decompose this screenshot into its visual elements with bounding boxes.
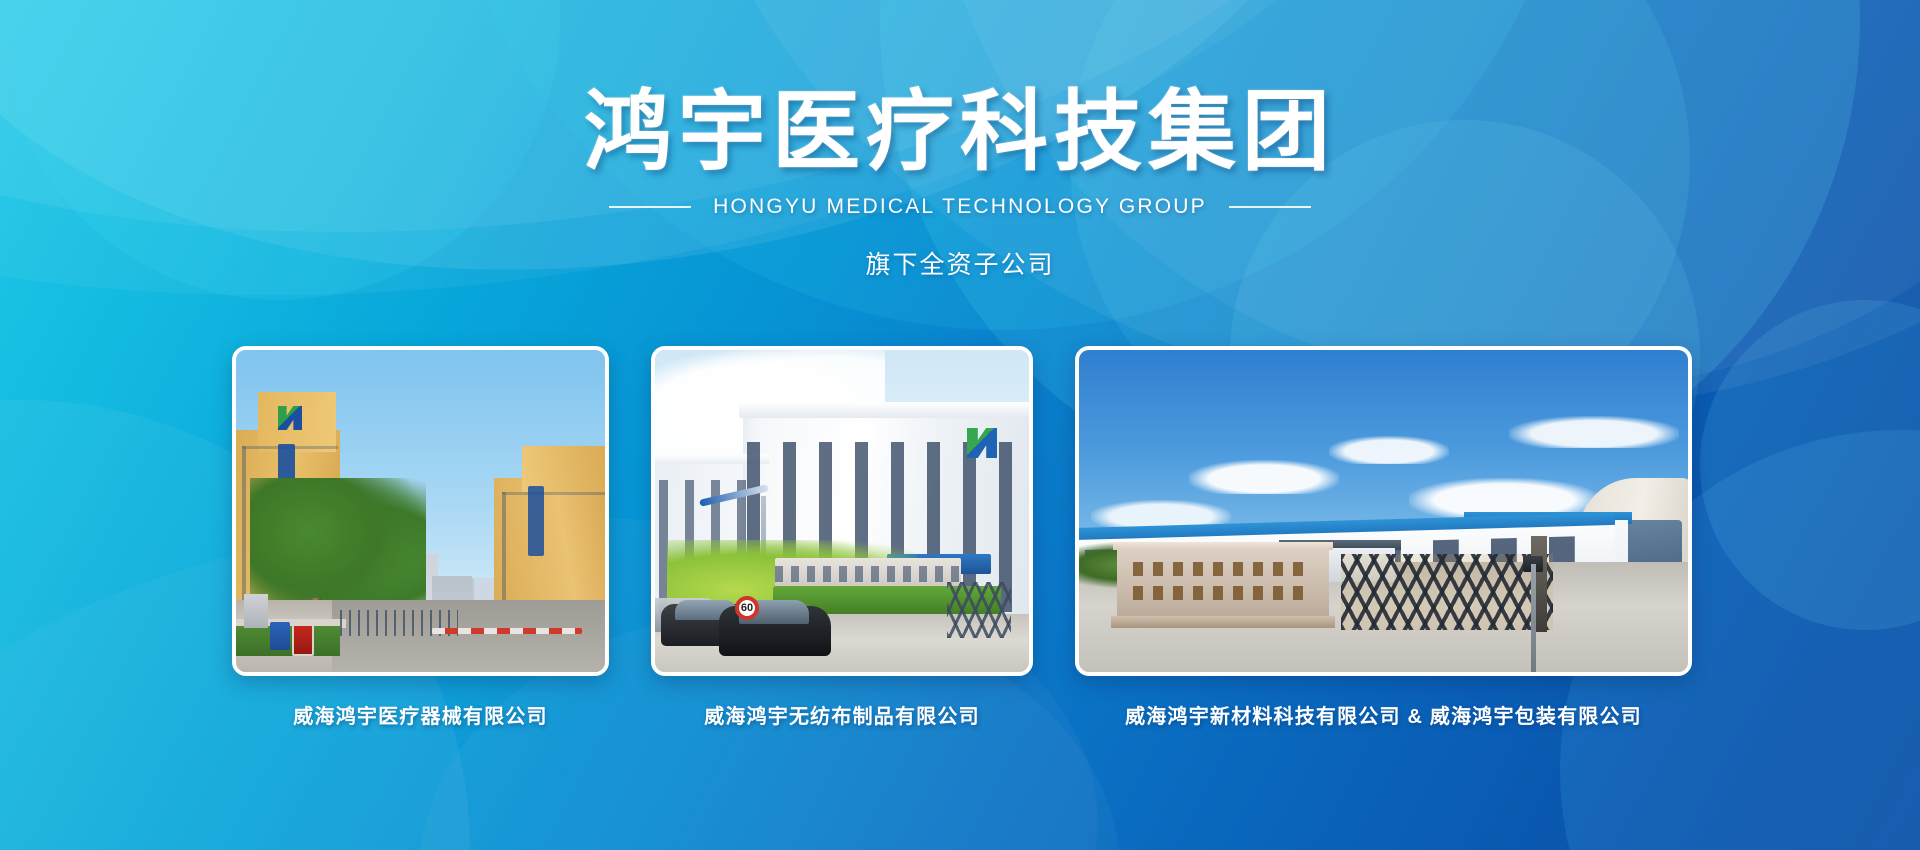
- speed-limit-sign: 60: [735, 596, 759, 620]
- weihai-hongyu-new-materials-and-packaging-factory-photo[interactable]: [1075, 346, 1692, 676]
- background-glow-circle: [1700, 300, 1920, 630]
- subsidiary-card[interactable]: 威海鸿宇医疗器械有限公司: [232, 346, 609, 729]
- subsidiary-name: 威海鸿宇新材料科技有限公司 & 威海鸿宇包装有限公司: [1125, 700, 1642, 729]
- wall-sign-line-1: [1133, 562, 1313, 576]
- subsidiary-card-list: 威海鸿宇医疗器械有限公司: [232, 346, 1692, 729]
- divider-line-left: [609, 206, 691, 208]
- subsidiary-card[interactable]: 威海鸿宇新材料科技有限公司 & 威海鸿宇包装有限公司: [1075, 346, 1692, 729]
- page-title: 鸿宇医疗科技集团: [0, 84, 1920, 179]
- subsidiary-name: 威海鸿宇医疗器械有限公司: [293, 700, 547, 729]
- factory-gate: [947, 582, 1011, 638]
- factory-gate: [1341, 554, 1553, 630]
- wall-sign-line-2: [1133, 586, 1313, 600]
- weihai-hongyu-medical-devices-campus-photo[interactable]: [232, 346, 609, 676]
- weihai-hongyu-nonwoven-fabric-office-photo[interactable]: 60: [651, 346, 1033, 676]
- english-subtitle: HONGYU MEDICAL TECHNOLOGY GROUP: [713, 195, 1207, 219]
- subsidiary-card[interactable]: 60 威海鸿宇无纺布制品有限公司: [651, 346, 1033, 729]
- english-subtitle-row: HONGYU MEDICAL TECHNOLOGY GROUP: [0, 195, 1920, 219]
- chinese-subtitle: 旗下全资子公司: [0, 245, 1920, 281]
- company-group-banner: 鸿宇医疗科技集团 HONGYU MEDICAL TECHNOLOGY GROUP…: [0, 0, 1920, 850]
- banner-header: 鸿宇医疗科技集团 HONGYU MEDICAL TECHNOLOGY GROUP…: [0, 0, 1920, 281]
- subsidiary-name: 威海鸿宇无纺布制品有限公司: [704, 700, 980, 729]
- divider-line-right: [1229, 206, 1311, 208]
